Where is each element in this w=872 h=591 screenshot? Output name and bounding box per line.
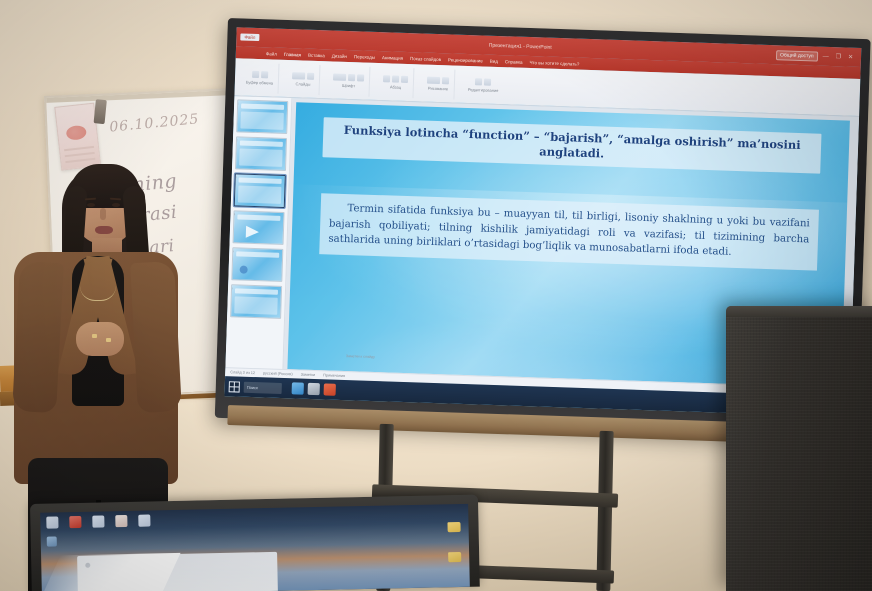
thumbnail-number: 4 bbox=[233, 212, 235, 216]
thumbnail-title-block bbox=[235, 288, 278, 294]
tab-insert[interactable]: Вставка bbox=[308, 52, 325, 58]
tab-review[interactable]: Рецензирование bbox=[448, 57, 483, 63]
speaker-top-face bbox=[726, 306, 872, 317]
classroom-photo-scene: 06.10.2025 Matnning strukturasi elementl… bbox=[0, 0, 872, 591]
explorer-icon[interactable] bbox=[308, 383, 320, 395]
thumbnail-number: 1 bbox=[237, 101, 239, 105]
speaker-cabinet bbox=[726, 306, 872, 591]
slide-thumbnail[interactable]: 5 bbox=[231, 247, 283, 282]
slide-body-text: Termin sifatida funksiya bu – muayyan ti… bbox=[328, 200, 810, 263]
thumbnail-title-block bbox=[236, 251, 279, 257]
slide-thumbnail[interactable]: 6 bbox=[230, 284, 282, 319]
ribbon-group-paragraph[interactable]: Абзац bbox=[378, 67, 415, 98]
screen-glare bbox=[42, 553, 181, 591]
arm-right bbox=[130, 261, 182, 413]
taskbar-app-icons[interactable] bbox=[292, 382, 336, 395]
laptop[interactable] bbox=[30, 495, 480, 591]
ribbon-group-drawing[interactable]: Рисование bbox=[422, 68, 456, 99]
ribbon-group-label: Буфер обмена bbox=[246, 79, 273, 85]
thumbnail-body-block bbox=[240, 111, 284, 129]
new-slide-icon[interactable] bbox=[292, 72, 314, 80]
folder-icon[interactable] bbox=[448, 552, 461, 562]
window-controls[interactable]: — ❐ ✕ bbox=[823, 53, 858, 60]
thumbnail-body-block bbox=[239, 148, 283, 166]
doc-icon[interactable] bbox=[138, 514, 150, 526]
start-button-icon[interactable] bbox=[229, 381, 240, 392]
tab-design[interactable]: Дизайн bbox=[332, 53, 347, 58]
shortcut-icon[interactable] bbox=[47, 536, 57, 546]
ribbon-group-label: Абзац bbox=[390, 84, 401, 89]
tab-slideshow[interactable]: Показ слайдов bbox=[410, 56, 441, 62]
slide-thumbnail[interactable]: 4 bbox=[233, 210, 285, 245]
ring bbox=[92, 334, 97, 338]
ribbon-group-clipboard[interactable]: Буфер обмена bbox=[241, 62, 280, 93]
eye-left bbox=[87, 203, 95, 207]
minimize-icon[interactable]: — bbox=[823, 53, 829, 59]
ribbon-group-label: Слайды bbox=[296, 81, 311, 86]
comments-button[interactable]: Примечания bbox=[323, 373, 345, 378]
ribbon-group-label: Редактирование bbox=[468, 86, 499, 92]
diagram-icon bbox=[240, 266, 248, 274]
slide-thumbnail-pane[interactable]: 1 2 3 4 bbox=[225, 96, 292, 378]
ring bbox=[106, 338, 111, 342]
arrow-shape-icon bbox=[246, 226, 259, 238]
thumbnail-title-block bbox=[241, 103, 284, 109]
thumbnail-body-block bbox=[238, 185, 282, 203]
paragraph-icon[interactable] bbox=[383, 75, 408, 83]
thumbnail-number: 2 bbox=[236, 138, 238, 142]
slide-thumbnail-selected[interactable]: 3 bbox=[234, 173, 286, 208]
taskbar-search-input[interactable]: Поиск bbox=[244, 381, 282, 393]
slide-title-text: Funksiya lotincha “function” – “bajarish… bbox=[330, 122, 813, 169]
tab-animations[interactable]: Анимация bbox=[382, 55, 403, 61]
speaker-fabric-texture bbox=[726, 317, 872, 591]
thumbnail-title-block bbox=[237, 214, 280, 220]
tab-transitions[interactable]: Переходы bbox=[354, 54, 375, 60]
app-icon[interactable] bbox=[115, 515, 127, 527]
notes-button[interactable]: Заметки bbox=[301, 373, 316, 377]
ribbon-group-label: Рисование bbox=[428, 85, 448, 91]
laptop-bezel bbox=[30, 495, 480, 591]
ribbon-group-editing[interactable]: Редактирование bbox=[463, 69, 504, 100]
share-button[interactable]: Общий доступ bbox=[776, 50, 818, 61]
laptop-screen[interactable] bbox=[40, 504, 470, 591]
hands bbox=[76, 322, 124, 356]
thumbnail-title-block bbox=[239, 177, 282, 183]
computer-icon[interactable] bbox=[46, 516, 58, 528]
slide-thumbnail[interactable]: 2 bbox=[235, 136, 287, 171]
folder-icon[interactable] bbox=[92, 515, 104, 527]
eye-right bbox=[112, 203, 120, 207]
close-icon[interactable]: ✕ bbox=[848, 54, 853, 60]
font-icon[interactable] bbox=[333, 73, 364, 81]
file-chip[interactable]: Файл bbox=[240, 33, 259, 41]
slide-title-placeholder[interactable]: Funksiya lotincha “function” – “bajarish… bbox=[322, 117, 822, 174]
desktop-icon-row-1[interactable] bbox=[46, 514, 150, 528]
folder-icon[interactable] bbox=[447, 522, 460, 532]
media-icon[interactable] bbox=[324, 383, 336, 395]
thumbnail-number: 3 bbox=[235, 175, 237, 179]
browser-icon[interactable] bbox=[292, 382, 304, 394]
thumbnail-number: 5 bbox=[232, 249, 234, 253]
clipboard-icon[interactable] bbox=[252, 70, 268, 78]
arm-left bbox=[12, 261, 64, 413]
thumbnail-body-block bbox=[234, 296, 278, 314]
ribbon-group-slides[interactable]: Слайды bbox=[287, 64, 321, 95]
desktop-icon-row-2[interactable] bbox=[47, 536, 57, 546]
maximize-icon[interactable]: ❐ bbox=[836, 54, 842, 60]
search-icon[interactable] bbox=[475, 78, 491, 86]
nose bbox=[100, 208, 106, 220]
mouth bbox=[95, 226, 113, 234]
ribbon-group-font[interactable]: Шрифт bbox=[328, 65, 371, 96]
tab-home[interactable]: Главная bbox=[284, 51, 301, 57]
tell-me-search[interactable]: Что вы хотите сделать? bbox=[529, 60, 579, 67]
recycle-bin-icon[interactable] bbox=[69, 516, 81, 528]
tab-help[interactable]: Справка bbox=[505, 59, 523, 65]
slide-thumbnail[interactable]: 1 bbox=[236, 99, 288, 134]
tab-view[interactable]: Вид bbox=[490, 58, 498, 63]
language-indicator[interactable]: русский (Россия) bbox=[263, 371, 293, 376]
shapes-icon[interactable] bbox=[427, 76, 449, 84]
tab-file[interactable]: Файл bbox=[266, 51, 277, 56]
thumbnail-number: 6 bbox=[231, 286, 233, 290]
ribbon-group-label: Шрифт bbox=[342, 82, 355, 87]
slide-indicator: Слайд 3 из 12 bbox=[230, 370, 255, 375]
thumbnail-title-block bbox=[240, 140, 283, 146]
